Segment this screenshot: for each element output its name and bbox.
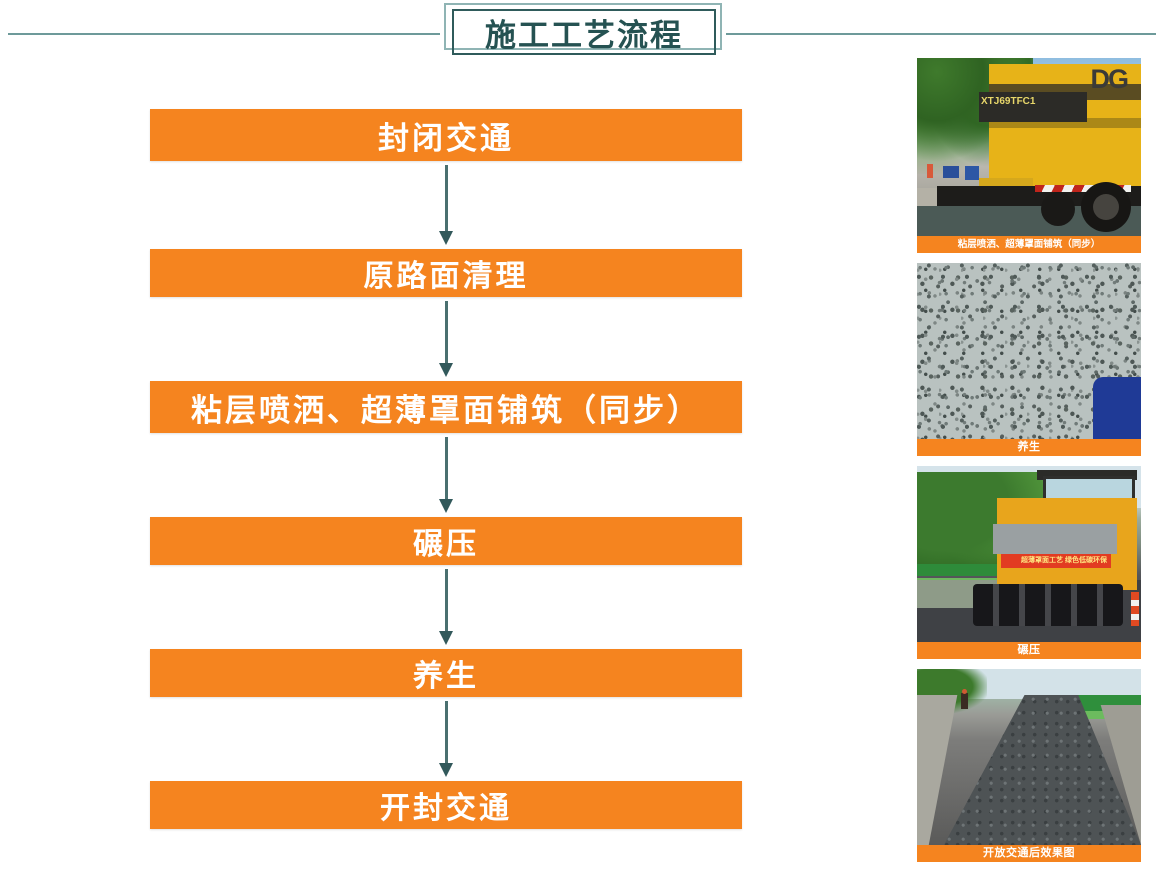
flow-step-box[interactable]: 养生	[150, 649, 742, 697]
motorcyclist-head	[962, 689, 967, 694]
paver-boom-text: XTJ69TFC1	[981, 96, 1035, 107]
arrow-head-icon	[439, 499, 453, 513]
traffic-cone	[1131, 592, 1139, 626]
flow-step-6: 开封交通	[150, 781, 742, 829]
roller-drum	[993, 524, 1117, 554]
photo-image-finished-road	[917, 669, 1141, 845]
photo-caption: 开放交通后效果图	[917, 845, 1141, 862]
flow-step-box[interactable]: 封闭交通	[150, 109, 742, 161]
flow-step-5: 养生	[150, 649, 742, 697]
arrow-stem	[445, 437, 448, 505]
photo-card-open-traffic[interactable]: 开放交通后效果图	[917, 669, 1141, 862]
motorcyclist-figure	[961, 693, 968, 709]
roller-banner-text: 超薄罩面工艺 绿色低碳环保	[1021, 555, 1107, 565]
paver-wheel-rear	[1041, 192, 1075, 226]
paver-wheel-front	[1081, 182, 1131, 232]
worker-figure	[927, 164, 933, 178]
title-rule-left	[8, 33, 440, 35]
arrow-stem	[445, 165, 448, 237]
arrow-head-icon	[439, 231, 453, 245]
arrow-stem	[445, 569, 448, 637]
page-title: 施工工艺流程	[452, 9, 716, 55]
blue-drum-2	[965, 166, 979, 180]
flow-step-box[interactable]: 碾压	[150, 517, 742, 565]
flow-step-box[interactable]: 原路面清理	[150, 249, 742, 297]
photo-card-paving[interactable]: DG XTJ69TFC1 粘层喷洒、超薄罩面铺筑（同步）	[917, 58, 1141, 253]
photo-image-aggregate	[917, 263, 1141, 439]
title-rule-right	[726, 33, 1156, 35]
flow-step-2: 原路面清理	[150, 249, 742, 297]
flow-arrow-4	[150, 565, 742, 649]
flow-arrow-1	[150, 161, 742, 249]
roller-tires	[973, 584, 1123, 626]
flow-step-box[interactable]: 粘层喷洒、超薄罩面铺筑（同步）	[150, 381, 742, 433]
blue-object	[1093, 377, 1141, 439]
arrow-head-icon	[439, 363, 453, 377]
flow-arrow-5	[150, 697, 742, 781]
arrow-stem	[445, 301, 448, 369]
flow-step-3: 粘层喷洒、超薄罩面铺筑（同步）	[150, 381, 742, 433]
flow-step-box[interactable]: 开封交通	[150, 781, 742, 829]
arrow-head-icon	[439, 763, 453, 777]
photo-image-roller: 超薄罩面工艺 绿色低碳环保	[917, 466, 1141, 642]
photo-gallery: DG XTJ69TFC1 粘层喷洒、超薄罩面铺筑（同步） 养生	[917, 58, 1141, 872]
flow-step-1: 封闭交通	[150, 109, 742, 161]
photo-caption: 养生	[917, 439, 1141, 456]
blue-drum-1	[943, 166, 959, 178]
arrow-head-icon	[439, 631, 453, 645]
photo-card-rolling[interactable]: 超薄罩面工艺 绿色低碳环保 碾压	[917, 466, 1141, 659]
arrow-stem	[445, 701, 448, 769]
machine-brand-text: DG	[1091, 64, 1128, 95]
title-band: 施工工艺流程	[0, 0, 1172, 58]
photo-caption: 碾压	[917, 642, 1141, 659]
flow-arrow-3	[150, 433, 742, 517]
photo-caption: 粘层喷洒、超薄罩面铺筑（同步）	[917, 236, 1141, 253]
flow-arrow-2	[150, 297, 742, 381]
photo-card-curing[interactable]: 养生	[917, 263, 1141, 456]
photo-image-paving: DG XTJ69TFC1	[917, 58, 1141, 236]
process-flowchart: 封闭交通 原路面清理 粘层喷洒、超薄罩面铺筑（同步） 碾压 养生 开封交通	[150, 109, 742, 829]
flow-step-4: 碾压	[150, 517, 742, 565]
